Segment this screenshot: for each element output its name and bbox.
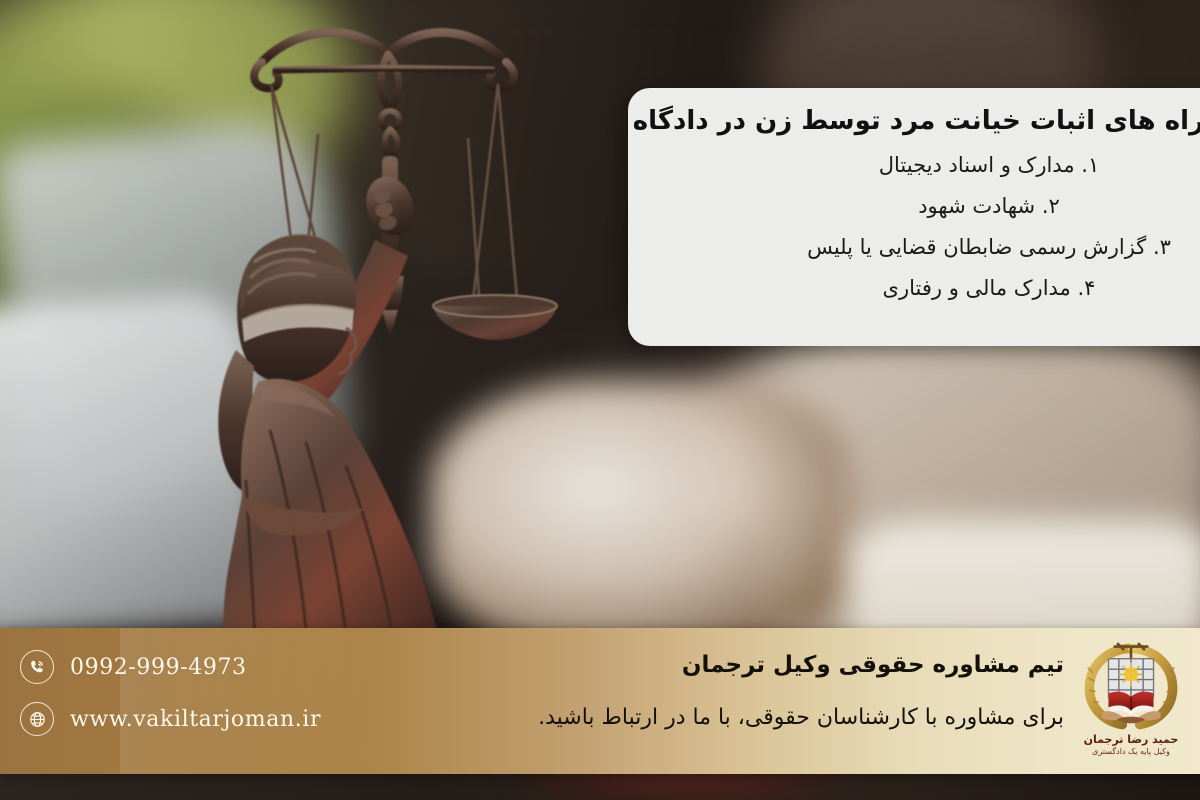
phone-number: 0992-999-4973 bbox=[70, 655, 247, 680]
list-item: ۱. مدارک و اسناد دیجیتال bbox=[654, 145, 1200, 186]
list-item: ۴. مدارک مالی و رفتاری bbox=[654, 268, 1200, 309]
slogan-line-1: تیم مشاوره حقوقی وکیل ترجمان bbox=[428, 648, 1068, 683]
card-list: ۱. مدارک و اسناد دیجیتال ۲. شهادت شهود ۳… bbox=[654, 145, 1200, 309]
contact-column: 0992-999-4973 www.vakiltarjoman.ir bbox=[20, 650, 380, 736]
card-title: راه های اثبات خیانت مرد توسط زن در دادگا… bbox=[654, 102, 1200, 141]
website-url: www.vakiltarjoman.ir bbox=[70, 707, 321, 732]
slogan-line-2: برای مشاوره با کارشناسان حقوقی، با ما در… bbox=[428, 701, 1068, 734]
phone-icon bbox=[20, 650, 54, 684]
list-item: ۲. شهادت شهود bbox=[654, 186, 1200, 227]
lawyer-name: حمید رضا ترجمان bbox=[1084, 733, 1179, 746]
poster-canvas: راه های اثبات خیانت مرد توسط زن در دادگا… bbox=[0, 0, 1200, 800]
contact-website-row[interactable]: www.vakiltarjoman.ir bbox=[20, 702, 380, 736]
list-item: ۳. گزارش رسمی ضابطان قضایی یا پلیس bbox=[654, 227, 1200, 268]
slogan-column: تیم مشاوره حقوقی وکیل ترجمان برای مشاوره… bbox=[428, 648, 1068, 734]
contact-phone-row[interactable]: 0992-999-4973 bbox=[20, 650, 380, 684]
info-card: راه های اثبات خیانت مرد توسط زن در دادگا… bbox=[628, 88, 1200, 346]
bar-association-emblem bbox=[1079, 634, 1183, 732]
footer-bar: 0992-999-4973 www.vakiltarjoman.ir تیم م… bbox=[0, 628, 1200, 774]
lady-justice-statue bbox=[150, 10, 620, 650]
globe-icon bbox=[20, 702, 54, 736]
lawyer-logo: حمید رضا ترجمان وکیل پایه یک دادگستری bbox=[1070, 634, 1192, 768]
lawyer-title: وکیل پایه یک دادگستری bbox=[1092, 747, 1170, 756]
